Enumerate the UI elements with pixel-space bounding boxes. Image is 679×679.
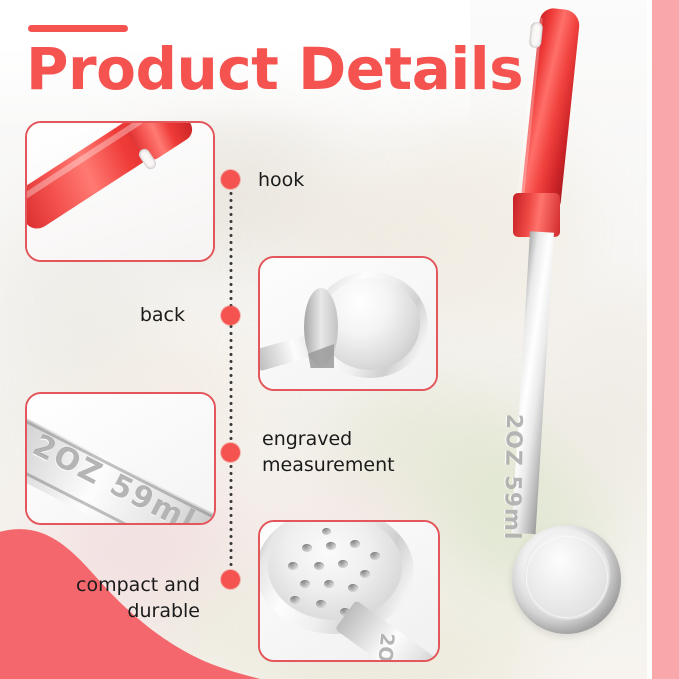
timeline-dot-compact (221, 570, 240, 589)
title-accent-rule (28, 25, 128, 32)
timeline-dotted-line (228, 176, 234, 588)
detail-photo-back (260, 258, 436, 389)
detail-photo-hook (27, 123, 213, 260)
timeline-dot-engraved (221, 443, 240, 462)
detail-card-hook[interactable] (25, 121, 215, 262)
engraving-text-perforated: 2O (374, 632, 398, 660)
callout-engraved-line2: measurement (262, 452, 395, 478)
callout-compact-line1: compact and (20, 572, 200, 598)
detail-photo-engraved: 2OZ 59ml (27, 394, 214, 523)
hero-collar (513, 193, 560, 237)
timeline-dot-back (221, 306, 240, 325)
hero-product-spoon: 2OZ 59ml (470, 0, 660, 679)
detail-card-back[interactable] (258, 256, 438, 391)
callout-label-hook: hook (258, 167, 304, 193)
detail-photo-perforated: 2O (260, 522, 438, 660)
callout-label-compact: compact and durable (20, 572, 200, 624)
timeline-dot-hook (221, 170, 240, 189)
callout-label-engraved: engraved measurement (262, 426, 395, 478)
detail-card-engraved[interactable]: 2OZ 59ml (25, 392, 216, 525)
callout-compact-line2: durable (20, 598, 200, 624)
hero-bowl-rim-highlight (526, 536, 608, 618)
product-details-infographic: Product Details hook back engraved measu… (0, 0, 679, 679)
callout-engraved-line1: engraved (262, 426, 395, 452)
callout-label-back: back (60, 302, 185, 328)
page-title: Product Details (26, 38, 523, 100)
hero-engraving-text: 2OZ 59ml (499, 414, 526, 541)
detail-card-compact[interactable]: 2O (258, 520, 440, 662)
